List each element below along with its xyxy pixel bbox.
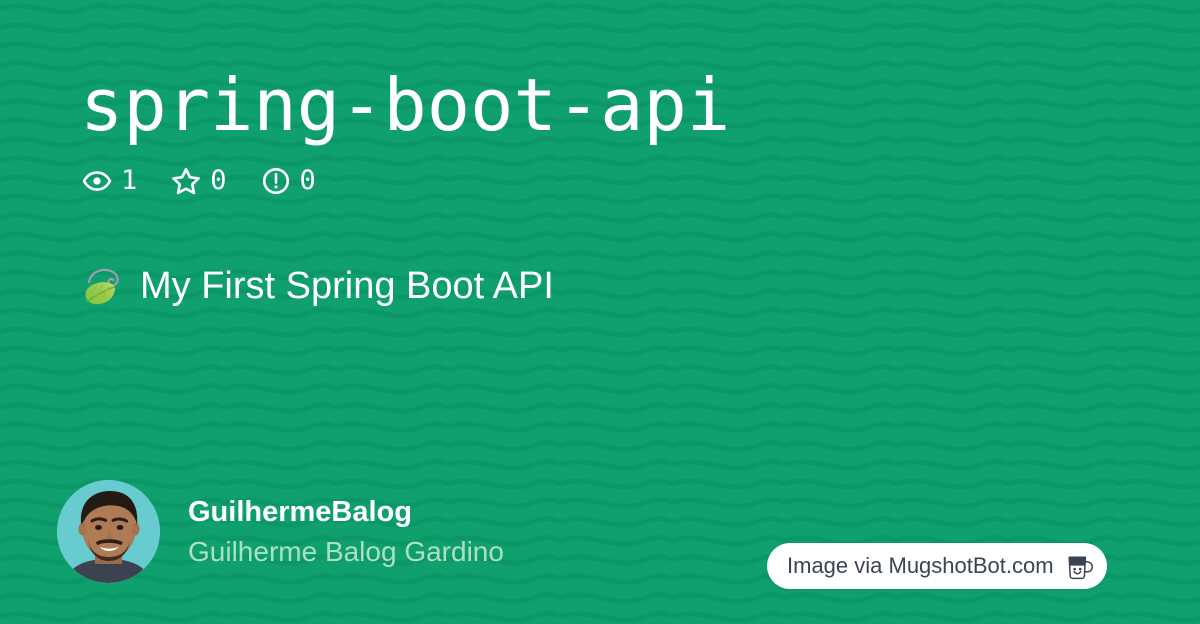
stat-issues-value: 0: [300, 166, 316, 196]
stat-issues: 0: [261, 166, 316, 196]
stat-watchers: 1: [82, 166, 137, 196]
repo-stats: 1 0 0: [82, 166, 316, 196]
coffee-mug-icon: [1065, 551, 1095, 581]
star-icon: [171, 166, 201, 196]
author-row: GuilhermeBalog Guilherme Balog Gardino: [57, 480, 504, 583]
leaf-icon: [82, 264, 126, 308]
stat-stars: 0: [171, 166, 226, 196]
watermark-badge[interactable]: Image via MugshotBot.com: [767, 543, 1107, 589]
issue-exclamation-icon: [261, 166, 291, 196]
eye-icon: [82, 166, 112, 196]
avatar: [57, 480, 160, 583]
stat-watchers-value: 1: [121, 166, 137, 196]
author-fullname: Guilherme Balog Gardino: [188, 533, 504, 571]
watermark-text: Image via MugshotBot.com: [787, 543, 1054, 589]
social-preview-card: spring-boot-api 1 0 0: [0, 0, 1200, 624]
repo-description-row: My First Spring Boot API: [82, 262, 554, 310]
repo-description: My First Spring Boot API: [140, 262, 554, 310]
author-meta: GuilhermeBalog Guilherme Balog Gardino: [188, 493, 504, 571]
stat-stars-value: 0: [210, 166, 226, 196]
repo-title: spring-boot-api: [80, 62, 730, 148]
author-handle: GuilhermeBalog: [188, 493, 504, 531]
